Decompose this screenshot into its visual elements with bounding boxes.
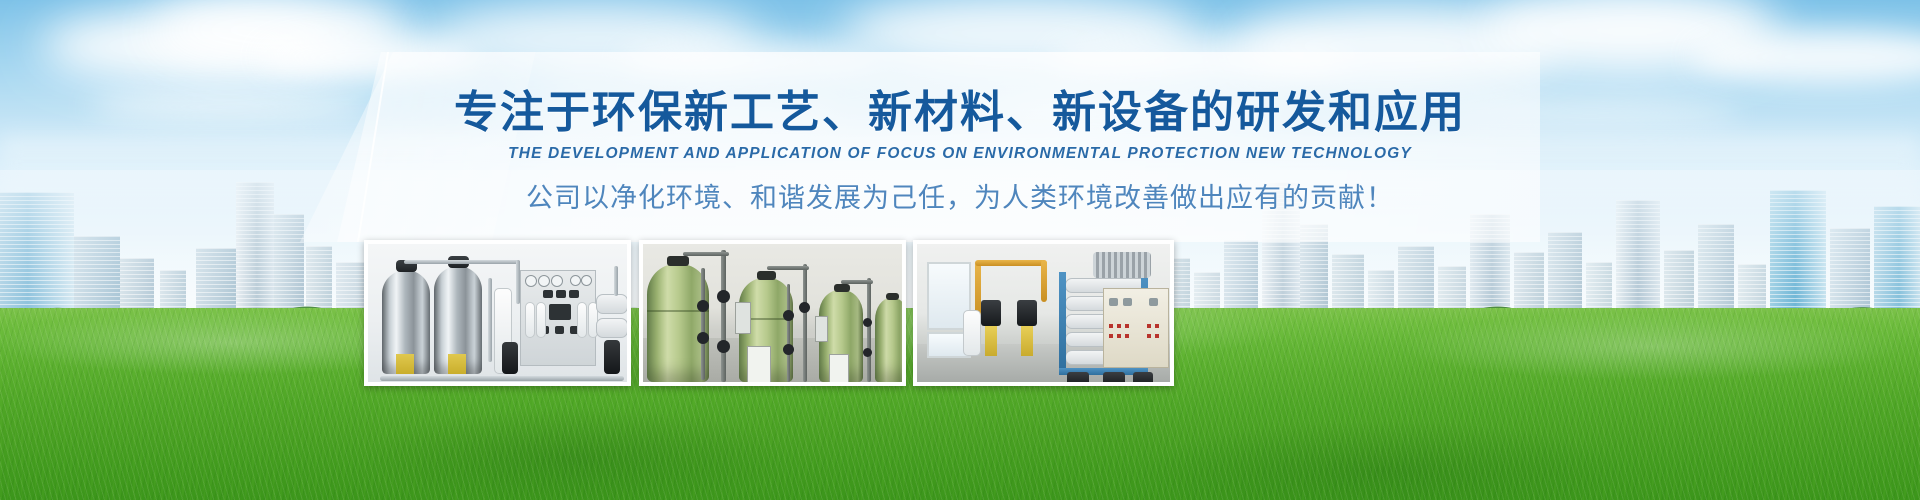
hero-banner: 专注于环保新工艺、新材料、新设备的研发和应用 THE DEVELOPMENT A…: [0, 0, 1920, 500]
equipment-photo-1[interactable]: [364, 240, 631, 386]
equipment-photo-strip: [364, 240, 1174, 388]
equipment-photo-3[interactable]: [913, 240, 1174, 386]
banner-headline: 专注于环保新工艺、新材料、新设备的研发和应用: [0, 90, 1920, 136]
banner-text-block: 专注于环保新工艺、新材料、新设备的研发和应用 THE DEVELOPMENT A…: [0, 90, 1920, 215]
banner-subtitle-chinese: 公司以净化环境、和谐发展为己任，为人类环境改善做出应有的贡献！: [0, 176, 1920, 215]
equipment-photo-2[interactable]: [639, 240, 906, 386]
stainless-steel-ro-water-treatment-skid-image: [368, 244, 627, 382]
ro-membrane-plant-room-image: [917, 244, 1170, 382]
green-frp-filter-tank-array-image: [643, 244, 902, 382]
banner-subtitle-english: THE DEVELOPMENT AND APPLICATION OF FOCUS…: [0, 145, 1920, 163]
